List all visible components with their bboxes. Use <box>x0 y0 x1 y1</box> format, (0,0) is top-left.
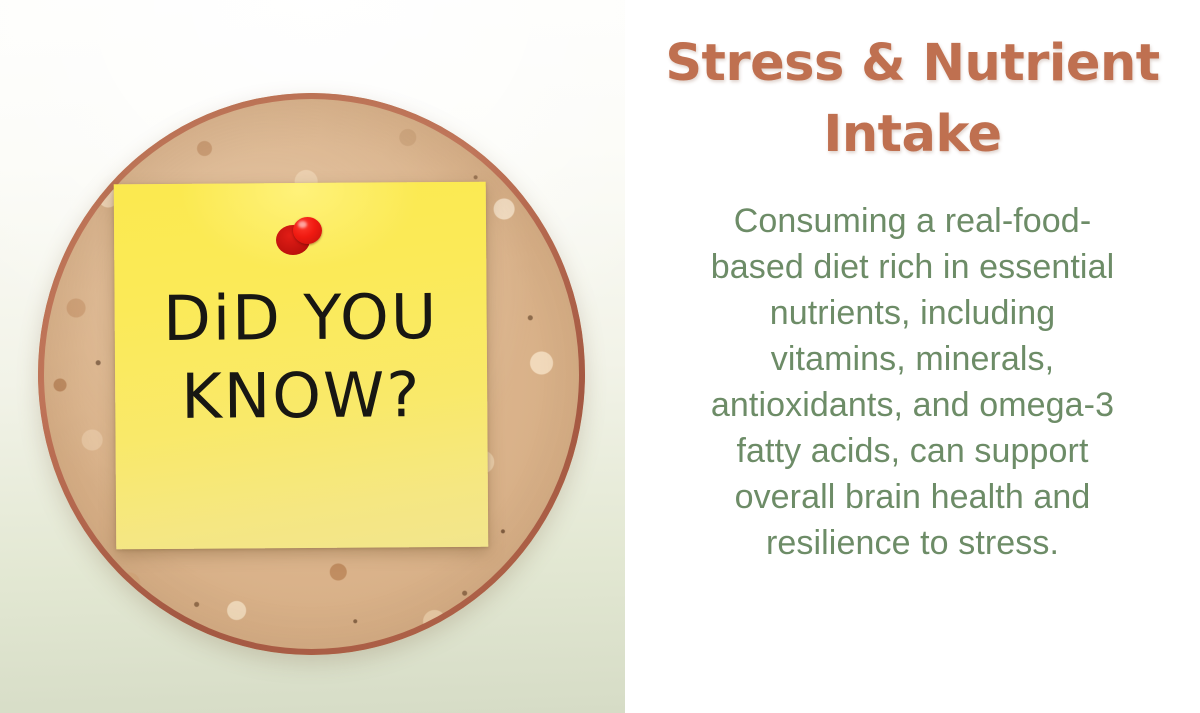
sticky-note-line-1: DiD YOU <box>114 278 487 359</box>
pushpin-highlight <box>298 221 307 228</box>
body-line: resilience to stress. <box>663 520 1162 566</box>
body-line: based diet rich in essential <box>663 244 1162 290</box>
body-line: vitamins, minerals, <box>663 336 1162 382</box>
body-paragraph: Consuming a real-food- based diet rich i… <box>657 198 1168 566</box>
body-line: antioxidants, and omega-3 <box>663 382 1162 428</box>
slide-root: DiD YOU KNOW? Stress & Nutrient Intake C… <box>0 0 1200 713</box>
body-line: overall brain health and <box>663 474 1162 520</box>
body-line: fatty acids, can support <box>663 428 1162 474</box>
sticky-note-text: DiD YOU KNOW? <box>114 278 487 437</box>
illustration-panel: DiD YOU KNOW? <box>0 0 625 713</box>
page-title: Stress & Nutrient Intake <box>657 28 1168 170</box>
text-panel: Stress & Nutrient Intake Consuming a rea… <box>625 0 1200 713</box>
body-line: nutrients, including <box>663 290 1162 336</box>
body-line: Consuming a real-food- <box>663 198 1162 244</box>
pushpin-head <box>293 217 322 244</box>
sticky-note-line-2: KNOW? <box>115 356 488 437</box>
red-pushpin-icon <box>272 213 324 261</box>
